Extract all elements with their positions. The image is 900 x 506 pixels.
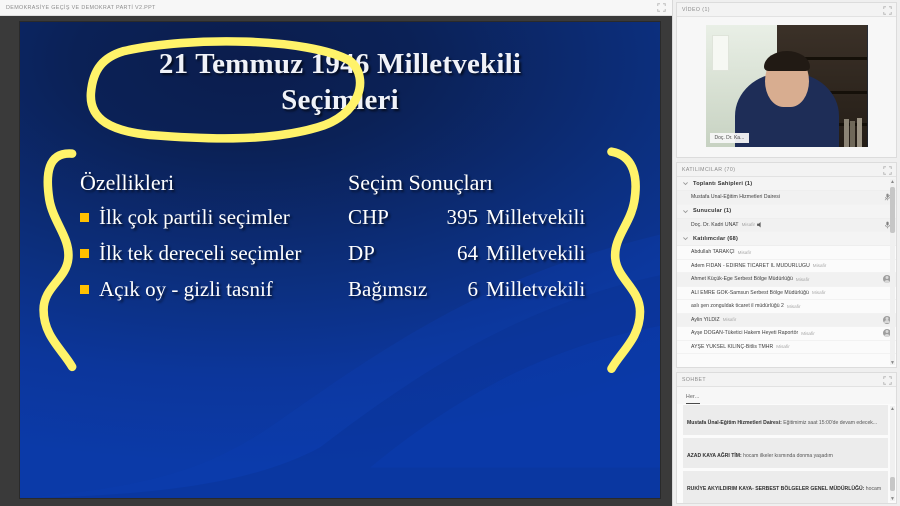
screen-share-panel: DEMOKRASİYE GEÇİŞ VE DEMOKRAT PARTİ V2.P… xyxy=(0,0,672,506)
bullet-square-icon xyxy=(80,213,89,222)
chat-pod: SOHBET Her... Mustafa Ünal-Eğitim Hizmet… xyxy=(676,372,897,504)
chat-text: Eğitimimiz saat 15:00'de devam edecek... xyxy=(782,420,877,426)
bullet-square-icon xyxy=(80,249,89,258)
shared-file-title: DEMOKRASİYE GEÇİŞ VE DEMOKRAT PARTİ V2.P… xyxy=(6,5,156,11)
participant-row[interactable]: Ahmet Küçük-Ege Serbest Bölge Müdürlüğü … xyxy=(677,273,896,287)
result-party: DP xyxy=(348,241,440,266)
chevron-down-icon xyxy=(682,180,689,187)
participant-name: ALİ EMRE GÖK-Samsun Serbest Bölge Müdürl… xyxy=(691,290,809,296)
participant-row[interactable]: aslı şen zonguldak ticaret il müdürlüğü … xyxy=(677,300,896,314)
slide-right-column: Seçim Sonuçları CHP 395 Milletvekili DP … xyxy=(344,170,634,313)
list-item: İlk tek dereceli seçimler xyxy=(80,241,344,266)
participants-pod-header: KATILIMCILAR (70) xyxy=(677,163,896,177)
participant-name: Ayşe DOĞAN-Tüketici Hakem Heyeti Raportö… xyxy=(691,330,798,336)
video-pod-header: VİDEO (1) xyxy=(677,3,896,17)
participant-role: Misafir xyxy=(796,277,810,282)
scroll-down-arrow[interactable]: ▼ xyxy=(889,359,896,366)
chat-tabbar: Her... xyxy=(677,387,896,404)
chat-scroll-down-arrow[interactable]: ▼ xyxy=(889,495,896,502)
chat-pod-title: SOHBET xyxy=(682,377,706,383)
participant-role: Misafir xyxy=(738,250,752,255)
participants-pod: KATILIMCILAR (70) Toplantı Sahipleri (1)… xyxy=(676,162,897,368)
chat-pod-header: SOHBET xyxy=(677,373,896,387)
scroll-up-arrow[interactable]: ▲ xyxy=(889,178,896,185)
video-feed[interactable]: Doç. Dr. Ka... xyxy=(706,25,868,147)
participant-group-header-attendees[interactable]: Katılımcılar (68) xyxy=(677,232,896,246)
tab-everyone[interactable]: Her... xyxy=(686,394,700,404)
participant-role: Misafir xyxy=(813,263,827,268)
group-label: Toplantı Sahipleri (1) xyxy=(693,181,752,187)
result-unit: Milletvekili xyxy=(486,277,585,302)
participant-row[interactable]: Doç. Dr. Kadri UNAT Misafir xyxy=(677,219,896,233)
participant-name: Aylin YILDIZ xyxy=(691,317,720,323)
chat-author: AZAD KAYA AĞRI TİM: xyxy=(687,453,742,459)
participant-row[interactable]: Mustafa Ünal-Eğitim Hizmetleri Dairesi xyxy=(677,191,896,205)
participant-role: Misafir xyxy=(776,344,790,349)
participant-role: Misafir xyxy=(787,304,801,309)
chat-author: RUKİYE AKYILDIRIM KAYA- SERBEST BÖLGELER… xyxy=(687,486,864,492)
bullet-text: İlk çok partili seçimler xyxy=(99,205,290,230)
chat-message-list[interactable]: Mustafa Ünal-Eğitim Hizmetleri Dairesi: … xyxy=(677,404,896,503)
participant-row[interactable]: Adem FİDAN - EDİRNE TİCARET İL MÜDÜRLÜĞÜ… xyxy=(677,260,896,274)
participant-row[interactable]: ALİ EMRE GÖK-Samsun Serbest Bölge Müdürl… xyxy=(677,287,896,301)
participant-name: Mustafa Ünal-Eğitim Hizmetleri Dairesi xyxy=(691,194,780,200)
bullet-text: İlk tek dereceli seçimler xyxy=(99,241,301,266)
video-pod: VİDEO (1) xyxy=(676,2,897,158)
video-pod-title: VİDEO (1) xyxy=(682,7,710,13)
participant-role: Misafir xyxy=(812,290,826,295)
participant-name: Abdullah TARAKÇI xyxy=(691,249,735,255)
slide-title-line1: 21 Temmuz 1946 Milletvekili xyxy=(60,46,620,82)
expand-icon[interactable] xyxy=(883,6,892,15)
result-count: 6 xyxy=(440,277,486,302)
participants-pod-title: KATILIMCILAR (70) xyxy=(682,167,735,173)
result-row: Bağımsız 6 Milletvekili xyxy=(348,277,634,302)
result-unit: Milletvekili xyxy=(486,241,585,266)
chat-message: RUKİYE AKYILDIRIM KAYA- SERBEST BÖLGELER… xyxy=(683,471,888,503)
participant-role: Misafir xyxy=(723,317,737,322)
expand-icon[interactable] xyxy=(657,3,666,12)
participants-scroll-thumb[interactable] xyxy=(890,187,895,233)
participant-name: Ahmet Küçük-Ege Serbest Bölge Müdürlüğü xyxy=(691,276,793,282)
result-party: Bağımsız xyxy=(348,277,440,302)
meeting-window: DEMOKRASİYE GEÇİŞ VE DEMOKRAT PARTİ V2.P… xyxy=(0,0,900,506)
list-item: İlk çok partili seçimler xyxy=(80,205,344,230)
chat-message: Mustafa Ünal-Eğitim Hizmetleri Dairesi: … xyxy=(683,405,888,435)
participant-group-header-hosts[interactable]: Toplantı Sahipleri (1) xyxy=(677,177,896,191)
result-count: 395 xyxy=(440,205,486,230)
video-background-poster xyxy=(712,35,728,72)
chat-scroll-thumb[interactable] xyxy=(890,477,895,491)
chat-scroll-up-arrow[interactable]: ▲ xyxy=(889,405,896,412)
participant-group-header-presenters[interactable]: Sunucular (1) xyxy=(677,205,896,219)
participant-role: Misafir xyxy=(742,222,756,227)
chat-message: AZAD KAYA AĞRI TİM: hocam ilkeler kısmın… xyxy=(683,438,888,468)
left-column-heading: Özellikleri xyxy=(80,170,344,196)
speaker-active-icon xyxy=(757,222,762,228)
participant-name: AYŞE YÜKSEL KILINÇ-Bitlis TMHR xyxy=(691,344,773,350)
group-label: Sunucular (1) xyxy=(693,208,731,214)
slide-left-column: Özellikleri İlk çok partili seçimler İlk… xyxy=(54,170,344,313)
bullet-text: Açık oy - gizli tasnif xyxy=(99,277,273,302)
slide-body: Özellikleri İlk çok partili seçimler İlk… xyxy=(20,170,660,313)
participant-row[interactable]: AYŞE YÜKSEL KILINÇ-Bitlis TMHR Misafir xyxy=(677,341,896,355)
share-titlebar: DEMOKRASİYE GEÇİŞ VE DEMOKRAT PARTİ V2.P… xyxy=(0,0,672,16)
result-unit: Milletvekili xyxy=(486,205,585,230)
chat-text: hocam ilkeler kısmında donma yaşadım xyxy=(742,453,833,459)
slide-stage: 21 Temmuz 1946 Milletvekili Seçimleri Öz… xyxy=(0,16,672,506)
participant-row[interactable]: Abdullah TARAKÇI Misafir xyxy=(677,246,896,260)
participant-name: Doç. Dr. Kadri UNAT xyxy=(691,222,739,228)
participant-row[interactable]: Aylin YILDIZ Misafir xyxy=(677,314,896,328)
result-row: DP 64 Milletvekili xyxy=(348,241,634,266)
chat-author: Mustafa Ünal-Eğitim Hizmetleri Dairesi: xyxy=(687,420,782,426)
bullet-square-icon xyxy=(80,285,89,294)
participant-name: aslı şen zonguldak ticaret il müdürlüğü … xyxy=(691,303,784,309)
result-row: CHP 395 Milletvekili xyxy=(348,205,634,230)
group-label: Katılımcılar (68) xyxy=(693,236,738,242)
result-count: 64 xyxy=(440,241,486,266)
list-item: Açık oy - gizli tasnif xyxy=(80,277,344,302)
sidebar: VİDEO (1) xyxy=(672,0,900,506)
participant-role: Misafir xyxy=(801,331,815,336)
expand-icon[interactable] xyxy=(883,376,892,385)
presentation-slide: 21 Temmuz 1946 Milletvekili Seçimleri Öz… xyxy=(20,22,660,498)
video-body: Doç. Dr. Ka... xyxy=(677,17,896,157)
result-party: CHP xyxy=(348,205,440,230)
chevron-down-icon xyxy=(682,208,689,215)
right-column-heading: Seçim Sonuçları xyxy=(348,170,634,196)
chevron-down-icon xyxy=(682,235,689,242)
slide-title: 21 Temmuz 1946 Milletvekili Seçimleri xyxy=(20,46,660,119)
participant-row[interactable]: Ayşe DOĞAN-Tüketici Hakem Heyeti Raportö… xyxy=(677,327,896,341)
participant-name: Adem FİDAN - EDİRNE TİCARET İL MÜDÜRLÜĞÜ xyxy=(691,263,810,269)
expand-icon[interactable] xyxy=(883,166,892,175)
video-participant-label: Doç. Dr. Ka... xyxy=(710,133,750,143)
slide-title-line2: Seçimleri xyxy=(60,82,620,118)
participants-list[interactable]: Toplantı Sahipleri (1) Mustafa Ünal-Eğit… xyxy=(677,177,896,367)
